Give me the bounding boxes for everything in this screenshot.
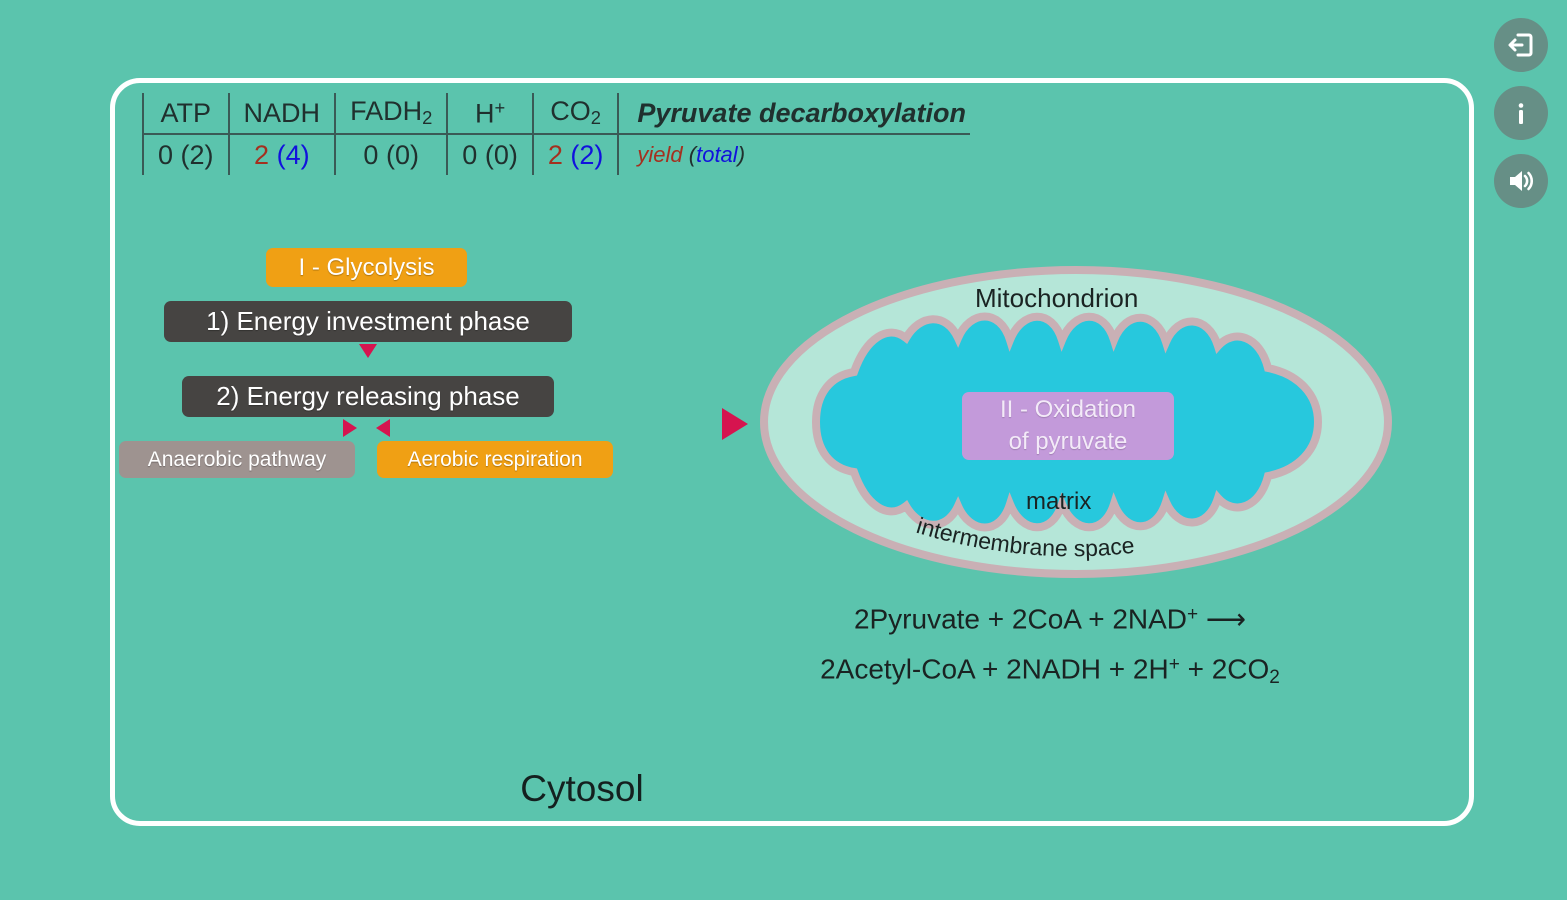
label-intermembrane-space: intermembrane space [900,500,1280,590]
pathway-label-aerobic[interactable]: Aerobic respiration [377,441,613,478]
yield-table: ATP NADH FADH2 H+ CO2 Pyruvate decarboxy… [142,93,970,175]
table-subtitle: yield (total) [618,134,970,175]
slide-canvas: ATP NADH FADH2 H+ CO2 Pyruvate decarboxy… [0,0,1567,900]
col-value-h: 0 (0) [447,134,533,175]
table-value-row: 0 (2) 2 (4) 0 (0) 0 (0) 2 (2) yield (tot… [143,134,970,175]
reaction-equation: 2Pyruvate + 2CoA + 2NAD+ ⟶ 2Acetyl-CoA +… [740,592,1360,699]
control-icon-rail [1493,18,1549,208]
col-value-fadh2: 0 (0) [335,134,447,175]
equation-line-2: 2Acetyl-CoA + 2NADH + 2H+ + 2CO2 [740,642,1360,700]
pathway-label-anaerobic[interactable]: Anaerobic pathway [119,441,355,478]
col-header-fadh2: FADH2 [335,93,447,134]
phase-label-energy-investment[interactable]: 1) Energy investment phase [164,301,572,342]
equation-line-1: 2Pyruvate + 2CoA + 2NAD+ ⟶ [740,592,1360,642]
stage-label-oxidation-of-pyruvate[interactable]: II - Oxidation of pyruvate [962,392,1174,460]
col-header-atp: ATP [143,93,229,134]
col-header-nadh: NADH [229,93,336,134]
arrow-down-icon [359,344,377,358]
arrow-right-icon [343,419,357,437]
info-icon[interactable] [1494,86,1548,140]
col-value-atp: 0 (2) [143,134,229,175]
oxidation-line-1: II - Oxidation [1000,394,1136,426]
stage-label-glycolysis[interactable]: I - Glycolysis [266,248,467,287]
col-header-co2: CO2 [533,93,619,134]
col-header-h: H+ [447,93,533,134]
svg-text:intermembrane space: intermembrane space [914,512,1136,561]
exit-icon[interactable] [1494,18,1548,72]
table-title: Pyruvate decarboxylation [618,93,970,134]
table-header-row: ATP NADH FADH2 H+ CO2 Pyruvate decarboxy… [143,93,970,134]
sound-icon[interactable] [1494,154,1548,208]
oxidation-line-2: of pyruvate [1009,426,1128,458]
label-cytosol: Cytosol [0,768,1164,810]
arrow-to-mitochondrion-icon [722,408,748,440]
label-mitochondrion: Mitochondrion [975,283,1138,314]
phase-label-energy-releasing[interactable]: 2) Energy releasing phase [182,376,554,417]
arrow-left-icon [376,419,390,437]
col-value-co2: 2 (2) [533,134,619,175]
col-value-nadh: 2 (4) [229,134,336,175]
